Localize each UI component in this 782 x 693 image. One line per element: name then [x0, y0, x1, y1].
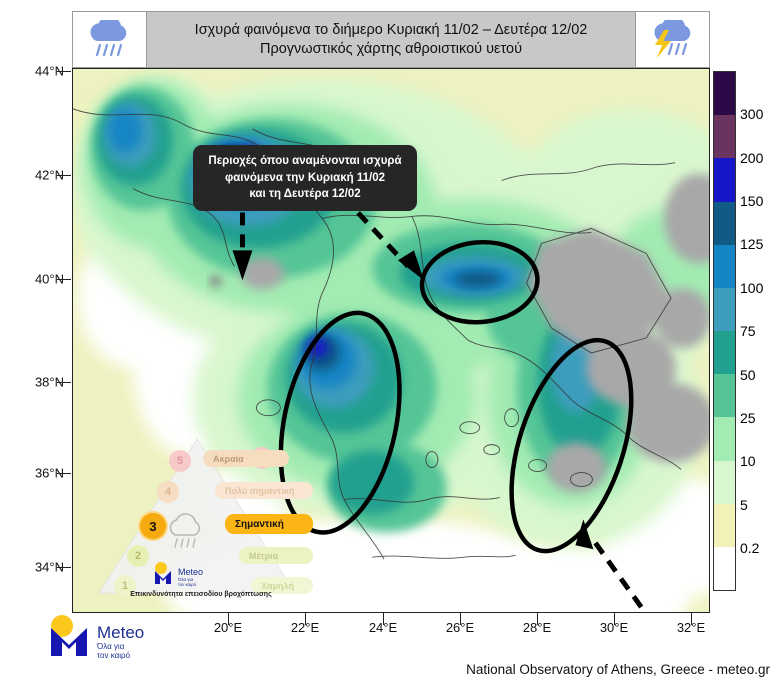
y-tick-mark-36N	[57, 473, 71, 474]
colorbar-swatch-below-0.2	[714, 547, 735, 590]
colorbar-label-100: 100	[740, 280, 763, 296]
y-tick-mark-40N	[57, 279, 71, 280]
x-tick-label-28E: 28°E	[523, 620, 551, 635]
colorbar-swatch-100-125	[714, 245, 735, 288]
meteo-tagline-line-1: Όλα για	[96, 642, 125, 651]
thunderstorm-cloud-icon	[635, 12, 709, 67]
footer-credit: National Observatory of Athens, Greece -…	[0, 662, 770, 677]
colorbar-swatch-300plus	[714, 72, 735, 115]
x-tick-label-30E: 30°E	[600, 620, 628, 635]
colorbar-swatch-75-100	[714, 288, 735, 331]
title-text: Ισχυρά φαινόμενα το διήμερο Κυριακή 11/0…	[147, 12, 635, 67]
precipitation-map: 5 4 3 2 1 Ακραία Πολύ σημαντική Σημαντικ…	[72, 68, 710, 613]
annotation-north-line-3: και τη Δευτέρα 12/02	[206, 186, 404, 203]
colorbar-swatch-125-150	[714, 202, 735, 245]
colorbar-swatch-25-50	[714, 374, 735, 417]
colorbar-label-150: 150	[740, 193, 763, 209]
meteo-logo: Meteo Όλα για τον καιρό	[45, 612, 215, 664]
y-tick-label-36N: 36°N	[4, 466, 64, 481]
colorbar-label-75: 75	[740, 323, 756, 339]
colorbar-swatch-0.2-5	[714, 504, 735, 547]
x-tick-label-22E: 22°E	[291, 620, 319, 635]
colorbar-swatch-5-10	[714, 461, 735, 504]
colorbar-label-50: 50	[740, 367, 756, 383]
colorbar-label-125: 125	[740, 236, 763, 252]
colorbar-label-300: 300	[740, 106, 763, 122]
y-tick-label-44N: 44°N	[4, 64, 64, 79]
annotation-north: Περιοχές όπου αναμένονται ισχυρά φαινόμε…	[193, 145, 417, 211]
annotation-north-line-1: Περιοχές όπου αναμένονται ισχυρά	[206, 153, 404, 170]
colorbar-swatch-200-300	[714, 115, 735, 158]
colorbar-swatch-50-75	[714, 331, 735, 374]
colorbar-label-0.2: 0.2	[740, 540, 759, 556]
colorbar-label-200: 200	[740, 150, 763, 166]
colorbar-label-5: 5	[740, 497, 748, 513]
y-tick-mark-34N	[57, 567, 71, 568]
x-tick-label-32E: 32°E	[677, 620, 705, 635]
annotation-north-line-2: φαινόμενα την Κυριακή 11/02	[206, 170, 404, 187]
title-bar: Ισχυρά φαινόμενα το διήμερο Κυριακή 11/0…	[72, 11, 710, 68]
y-tick-mark-42N	[57, 175, 71, 176]
x-tick-label-20E: 20°E	[214, 620, 242, 635]
rain-cloud-icon	[73, 12, 147, 67]
meteo-wordmark: Meteo	[97, 623, 144, 642]
meteo-tagline-line-2: τον καιρό	[97, 651, 131, 660]
title-line-2: Προγνωστικός χάρτης αθροιστικού υετού	[260, 40, 522, 58]
y-tick-label-34N: 34°N	[4, 560, 64, 575]
colorbar-swatch-10-25	[714, 417, 735, 460]
colorbar-swatch-150-200	[714, 158, 735, 201]
title-line-1: Ισχυρά φαινόμενα το διήμερο Κυριακή 11/0…	[195, 21, 588, 39]
y-tick-label-42N: 42°N	[4, 168, 64, 183]
y-tick-label-40N: 40°N	[4, 272, 64, 287]
y-tick-mark-38N	[57, 382, 71, 383]
x-tick-label-26E: 26°E	[446, 620, 474, 635]
y-tick-mark-44N	[57, 71, 71, 72]
colorbar-label-10: 10	[740, 453, 756, 469]
precipitation-colorbar	[713, 71, 736, 591]
y-tick-label-38N: 38°N	[4, 375, 64, 390]
colorbar-label-25: 25	[740, 410, 756, 426]
x-tick-label-24E: 24°E	[369, 620, 397, 635]
